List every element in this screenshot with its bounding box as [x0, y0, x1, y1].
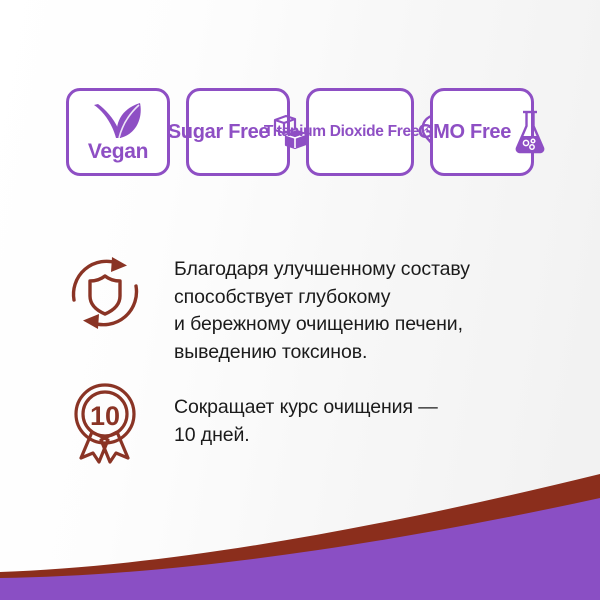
badge-titanium-dioxide-free: Titanium Dioxide Free TiO2 [306, 88, 414, 176]
shield-cycle-icon [64, 252, 146, 334]
feature-deep-cleansing: Благодаря улучшенному составу способству… [64, 252, 470, 367]
feature-deep-cleansing-text: Благодаря улучшенному составу способству… [174, 252, 470, 367]
badge-vegan-label: Vegan [88, 141, 148, 163]
promo-poster: Vegan Sugar Free [0, 0, 600, 600]
leaf-check-icon [90, 101, 146, 141]
badge-vegan: Vegan [66, 88, 170, 176]
badge-gmo-free: GMO Free [430, 88, 534, 176]
flask-icon [514, 110, 546, 154]
badge-gmo-free-label: GMO Free [418, 122, 511, 143]
badge-sugar-free-label: Sugar Free [168, 122, 269, 143]
medal-10-icon-label: 10 [90, 401, 120, 431]
feature-deep-cleansing-icon-wrap [64, 252, 146, 339]
feature-short-course-text: Сокращает курс очищения — 10 дней. [174, 378, 438, 449]
badge-titanium-dioxide-free-label: Titanium Dioxide Free [264, 124, 419, 140]
bottom-wave-decoration [0, 450, 600, 600]
certification-badge-row: Vegan Sugar Free [66, 88, 534, 176]
